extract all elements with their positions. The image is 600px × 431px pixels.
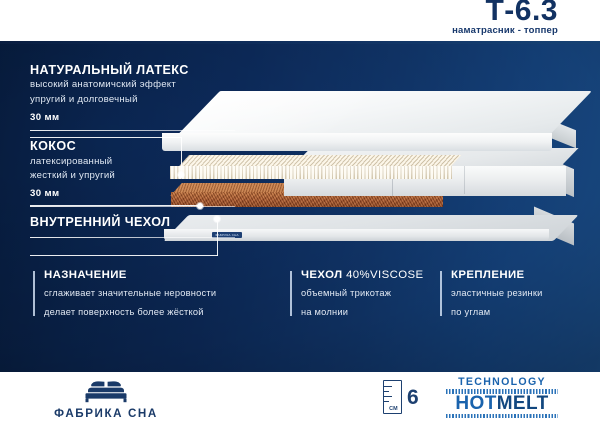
spec-list: НАТУРАЛЬНЫЙ ЛАТЕКС высокий анатомичский … — [30, 63, 235, 246]
feature-fastening-line2: по углам — [451, 306, 543, 319]
feature-cover-heading-detail: 40%VISCOSE — [346, 269, 423, 281]
spec-latex-heading: НАТУРАЛЬНЫЙ ЛАТЕКС — [30, 63, 235, 77]
spec-coconut-line1: латексированный — [30, 156, 235, 169]
spec-latex-line2: упругий и долговечный — [30, 94, 235, 107]
cover-seam-2 — [464, 166, 465, 194]
page-title: Т-6.3 — [485, 0, 558, 26]
spec-coconut-heading: КОКОС — [30, 139, 235, 153]
feature-cover: ЧЕХОЛ 40%VISCOSE объемный трикотаж на мо… — [290, 269, 424, 320]
feature-fastening: КРЕПЛЕНИЕ эластичные резинки по углам — [440, 269, 543, 320]
feature-fastening-heading: КРЕПЛЕНИЕ — [451, 269, 543, 281]
page-subtitle: наматрасник - топпер — [452, 26, 558, 36]
ruler-unit-label: CM — [385, 406, 402, 412]
spec-latex: НАТУРАЛЬНЫЙ ЛАТЕКС высокий анатомичский … — [30, 63, 235, 123]
feature-fastening-line1: эластичные резинки — [451, 287, 543, 300]
spec-coconut-line2: жесткий и упругий — [30, 170, 235, 183]
hotmelt-technology-label: TECHNOLOGY — [446, 376, 558, 388]
spec-latex-line1: высокий анатомичский эффект — [30, 79, 235, 92]
feature-cover-line1: объемный трикотаж — [301, 287, 424, 300]
footer: ФАБРИКА СНА CM 6 TECHNOLOGY HOTMELT — [0, 372, 600, 431]
header: Т-6.3 наматрасник - топпер — [0, 0, 600, 41]
bed-icon-svg — [77, 378, 135, 404]
height-value: 6 — [407, 387, 419, 408]
feature-purpose: НАЗНАЧЕНИЕ сглаживает значительные неров… — [33, 269, 216, 320]
hotmelt-hot: HOT — [455, 393, 496, 414]
bed-icon — [77, 378, 135, 404]
spec-inner-cover: ВНУТРЕННИЙ ЧЕХОЛ — [30, 215, 235, 229]
ruler-icon: CM — [383, 380, 402, 414]
spec-coconut-thickness: 30 мм — [30, 188, 235, 199]
feature-purpose-heading: НАЗНАЧЕНИЕ — [44, 269, 216, 281]
spec-latex-thickness: 30 мм — [30, 112, 235, 123]
hotmelt-wordmark: HOTMELT — [446, 394, 558, 414]
feature-purpose-heading-text: НАЗНАЧЕНИЕ — [44, 269, 127, 281]
feature-row: НАЗНАЧЕНИЕ сглаживает значительные неров… — [0, 269, 600, 347]
feature-purpose-line2: делает поверхность более жёсткой — [44, 306, 216, 319]
feature-fastening-heading-text: КРЕПЛЕНИЕ — [451, 269, 525, 281]
hotmelt-melt: MELT — [497, 393, 549, 414]
height-indicator: CM 6 — [383, 378, 439, 418]
brand-logo: ФАБРИКА СНА — [40, 378, 172, 420]
brand-name: ФАБРИКА СНА — [40, 407, 172, 420]
feature-cover-heading: ЧЕХОЛ 40%VISCOSE — [301, 269, 424, 281]
feature-cover-line2: на молнии — [301, 306, 424, 319]
hotmelt-texture-bar-bottom — [446, 414, 558, 418]
feature-cover-heading-text: ЧЕХОЛ — [301, 269, 342, 281]
spec-coconut: КОКОС латексированный жесткий и упругий … — [30, 139, 235, 199]
hotmelt-logo: TECHNOLOGY HOTMELT — [446, 376, 558, 418]
spec-divider-3 — [30, 237, 235, 238]
main-panel: ФАБРИКА СНА — [0, 41, 600, 372]
spec-divider-1 — [30, 130, 235, 131]
spec-inner-cover-heading: ВНУТРЕННИЙ ЧЕХОЛ — [30, 215, 235, 229]
product-infographic: Т-6.3 наматрасник - топпер ФАБРИКА СНА — [0, 0, 600, 431]
feature-purpose-line1: сглаживает значительные неровности — [44, 287, 216, 300]
spec-divider-2 — [30, 206, 235, 207]
